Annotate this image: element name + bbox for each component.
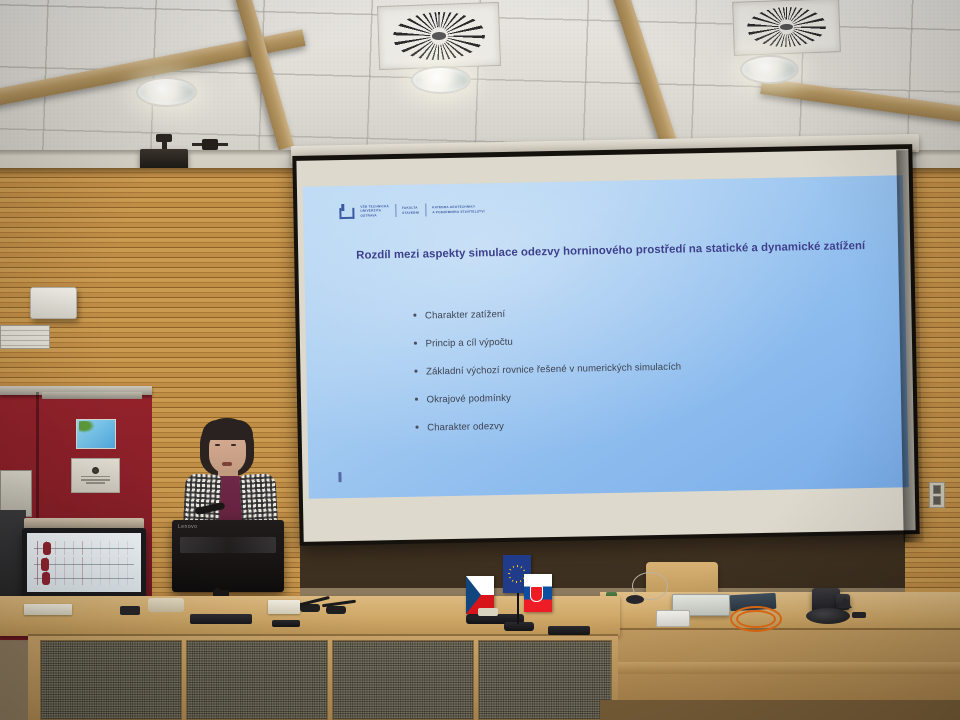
black-cone: [838, 597, 852, 608]
wall-speaker-box: [30, 287, 77, 319]
bullet-dot-icon: [414, 370, 417, 373]
hvac-diffuser-icon: [377, 2, 501, 70]
remote-control[interactable]: [272, 620, 300, 627]
white-junction-box[interactable]: [656, 610, 690, 627]
ceiling-camera: [202, 139, 218, 150]
desk-mesh-panel: [332, 640, 474, 720]
waveform-burst: [41, 558, 49, 571]
bullet-label: Okrajové podmínky: [427, 393, 512, 406]
wall-button[interactable]: [933, 496, 941, 505]
waveform-trace: [34, 557, 134, 571]
orange-coiled-cable: [736, 610, 776, 628]
slide-footer-mark: [338, 472, 341, 482]
wall-button-panel[interactable]: [929, 482, 945, 508]
slide-logo: VŠB TECHNICKÁ UNIVERZITA OSTRAVA FAKULTA…: [339, 201, 485, 219]
slide-title: Rozdíl mezi aspekty simulace odezvy horn…: [356, 238, 876, 265]
cable-connector: [626, 595, 644, 604]
logo-university-text: VŠB TECHNICKÁ UNIVERZITA OSTRAVA: [360, 204, 389, 217]
desk-mesh-panel: [40, 640, 182, 720]
list-item: Charakter odezvy: [415, 414, 885, 435]
desk-phone-handset[interactable]: [120, 606, 140, 615]
cable-end: [852, 612, 866, 618]
wall-vent-icon: [0, 325, 50, 349]
ceiling-downlight: [136, 77, 197, 107]
table-riser-step: [612, 662, 960, 674]
bullet-dot-icon: [416, 426, 419, 429]
paper-stack[interactable]: [268, 600, 300, 614]
bullet-label: Princip a cíl výpočtu: [425, 337, 513, 350]
logo-divider: [425, 203, 426, 216]
microphone-base[interactable]: [326, 606, 346, 614]
paper-stack[interactable]: [24, 604, 72, 615]
presenter-eye: [215, 444, 220, 446]
plaque-text-line: [86, 482, 106, 484]
presenter-mouth: [222, 462, 232, 466]
desk-mesh-panel: [478, 640, 612, 720]
monitor-screen-reflection: [180, 537, 276, 553]
bullet-dot-icon: [415, 398, 418, 401]
seismograph-screen: [27, 533, 141, 592]
waveform-burst: [43, 542, 51, 555]
presenter-fringe: [202, 420, 253, 440]
logo-faculty-text: FAKULTA STAVEBNÍ: [402, 206, 419, 215]
bullet-dot-icon: [413, 314, 416, 317]
floor: [600, 700, 960, 720]
bullet-label: Základní výchozí rovnice řešené v numeri…: [426, 362, 681, 378]
projection-screen-surface: VŠB TECHNICKÁ UNIVERZITA OSTRAVA FAKULTA…: [296, 149, 915, 542]
bullet-label: Charakter zatížení: [425, 309, 505, 322]
presentation-slide: VŠB TECHNICKÁ UNIVERZITA OSTRAVA FAKULTA…: [303, 175, 909, 498]
bullet-dot-icon: [414, 342, 417, 345]
memorial-plaque: [71, 458, 120, 493]
list-item: Charakter zatížení: [413, 302, 883, 323]
flag-base-plate: [478, 608, 498, 616]
list-item: Základní výchozí rovnice řešené v numeri…: [414, 358, 884, 379]
logo-department-text: KATEDRA GEOTECHNIKY A PODZEMNÍHO STAVITE…: [432, 205, 485, 215]
waveform-burst: [42, 572, 50, 585]
projection-screen-frame: VŠB TECHNICKÁ UNIVERZITA OSTRAVA FAKULTA…: [292, 144, 919, 546]
cable-tray: [190, 614, 252, 624]
ceiling-downlight: [740, 55, 799, 84]
plaque-seal-icon: [92, 467, 99, 474]
slide-bullet-list: Charakter zatížení Princip a cíl výpočtu…: [413, 302, 886, 451]
list-item: Princip a cíl výpočtu: [414, 330, 884, 351]
framed-picture: [76, 419, 116, 449]
remote-control[interactable]: [548, 626, 590, 635]
ceiling-downlight: [411, 66, 471, 94]
slovakia-coat-of-arms-icon: [530, 586, 543, 602]
wall-button[interactable]: [933, 485, 941, 494]
monitor-brand-label: Lenovo: [178, 524, 197, 530]
presenter-eye: [231, 444, 236, 446]
plaque-text-line: [81, 476, 110, 478]
flag-slovakia: [524, 574, 552, 612]
lectern-monitor[interactable]: Lenovo: [172, 520, 284, 592]
vsb-tuo-logo-mark-icon: [339, 204, 354, 219]
bullet-label: Charakter odezvy: [427, 421, 504, 434]
hvac-diffuser-icon: [732, 0, 841, 56]
desk-phone[interactable]: [148, 598, 184, 612]
list-item: Okrajové podmínky: [415, 386, 885, 407]
plaque-text-line: [81, 479, 110, 481]
seismograph-monitor[interactable]: [22, 528, 146, 604]
door-header-rail: [42, 392, 142, 399]
desk-mesh-panel: [186, 640, 328, 720]
lecture-hall-scene: VŠB TECHNICKÁ UNIVERZITA OSTRAVA FAKULTA…: [0, 0, 960, 720]
logo-divider: [395, 204, 396, 217]
flag-stand-center: [504, 622, 534, 631]
vibration-shaker-base: [806, 608, 850, 624]
